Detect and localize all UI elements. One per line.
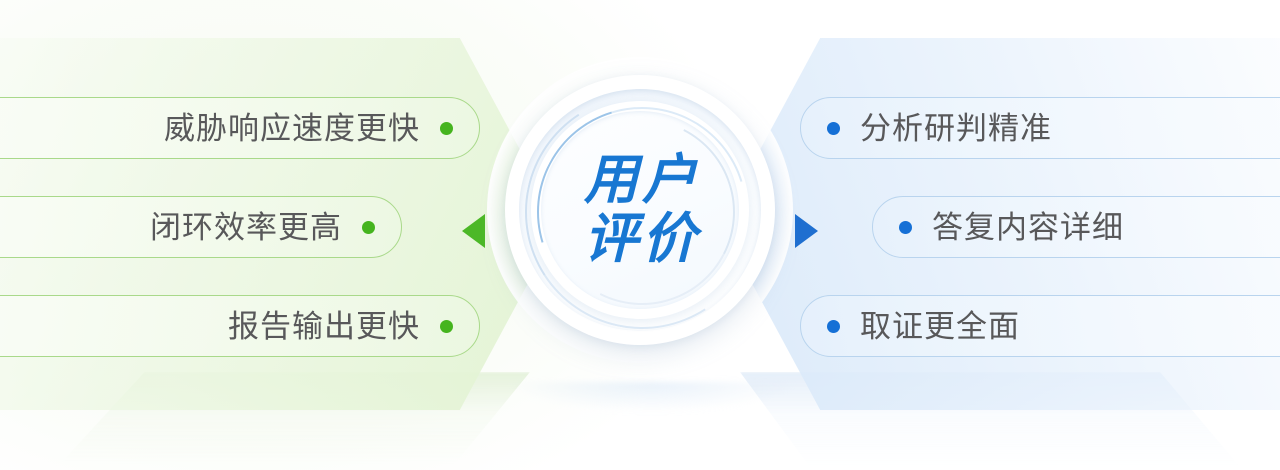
left-feature-label-3: 报告输出更快 xyxy=(228,311,420,342)
triangle-right-icon xyxy=(795,214,818,248)
blue-dot-icon xyxy=(827,122,840,135)
blue-dot-icon xyxy=(827,320,840,333)
right-feature-label-2: 答复内容详细 xyxy=(932,212,1124,243)
medallion-title-line-2: 评价 xyxy=(580,211,700,268)
right-feature-label-3: 取证更全面 xyxy=(860,311,1020,342)
center-medallion: 用户 评价 xyxy=(505,75,775,345)
left-feature-label-1: 威胁响应速度更快 xyxy=(164,113,420,144)
left-feature-label-2: 闭环效率更高 xyxy=(150,212,342,243)
medallion-title-line-1: 用户 xyxy=(580,152,700,209)
medallion-title: 用户 评价 xyxy=(505,75,775,345)
green-dot-icon xyxy=(362,221,375,234)
right-feature-pill-1[interactable]: 分析研判精准 xyxy=(800,97,1280,159)
medallion-shadow xyxy=(452,382,852,470)
right-feature-pill-2[interactable]: 答复内容详细 xyxy=(872,196,1280,258)
right-feature-pill-3[interactable]: 取证更全面 xyxy=(800,295,1280,357)
triangle-left-icon xyxy=(462,214,485,248)
green-dot-icon xyxy=(440,122,453,135)
left-feature-pill-1[interactable]: 威胁响应速度更快 xyxy=(0,97,480,159)
green-dot-icon xyxy=(440,320,453,333)
infographic-canvas: 威胁响应速度更快 闭环效率更高 报告输出更快 分析研判精准 答复内容详细 取证更… xyxy=(0,0,1280,470)
right-feature-label-1: 分析研判精准 xyxy=(860,113,1052,144)
left-feature-pill-3[interactable]: 报告输出更快 xyxy=(0,295,480,357)
blue-dot-icon xyxy=(899,221,912,234)
left-feature-pill-2[interactable]: 闭环效率更高 xyxy=(0,196,402,258)
